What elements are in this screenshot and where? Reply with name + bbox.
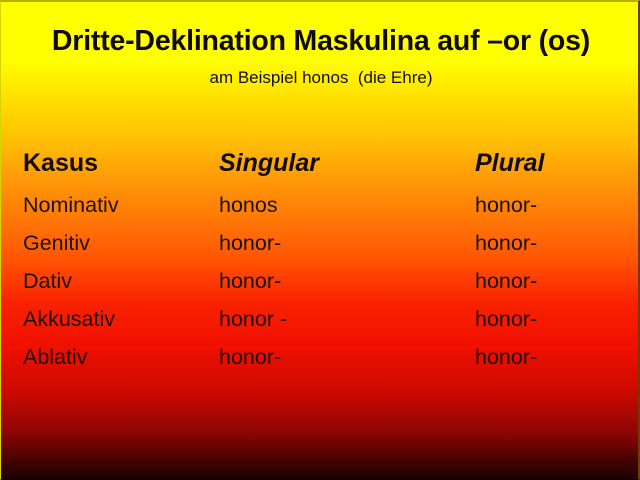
cell-singular: honor- [197,262,454,300]
cell-singular: honor- [197,338,454,376]
cell-kasus: Dativ [1,262,197,300]
cell-plural: honor- [454,300,640,338]
declension-table: Kasus Singular Plural Nominativ honos ho… [1,140,640,376]
cell-kasus: Ablativ [1,338,197,376]
slide-title: Dritte-Deklination Maskulina auf –or (os… [1,24,640,58]
column-header-singular: Singular [197,140,454,186]
slide-subtitle: am Beispiel honos (die Ehre) [1,67,640,88]
cell-plural: honor- [454,186,640,224]
table-row: Dativ honor- honor- [1,262,640,300]
cell-singular: honos [197,186,454,224]
table-header-row: Kasus Singular Plural [1,140,640,186]
cell-singular: honor- [197,224,454,262]
cell-plural: honor- [454,262,640,300]
slide-canvas: Dritte-Deklination Maskulina auf –or (os… [0,0,640,480]
column-header-plural: Plural [454,140,640,186]
title-block: Dritte-Deklination Maskulina auf –or (os… [1,24,640,88]
cell-kasus: Genitiv [1,224,197,262]
column-header-kasus: Kasus [1,140,197,186]
cell-kasus: Akkusativ [1,300,197,338]
table-row: Ablativ honor- honor- [1,338,640,376]
cell-plural: honor- [454,338,640,376]
table-row: Genitiv honor- honor- [1,224,640,262]
cell-singular: honor - [197,300,454,338]
table-row: Nominativ honos honor- [1,186,640,224]
cell-plural: honor- [454,224,640,262]
cell-kasus: Nominativ [1,186,197,224]
table-row: Akkusativ honor - honor- [1,300,640,338]
